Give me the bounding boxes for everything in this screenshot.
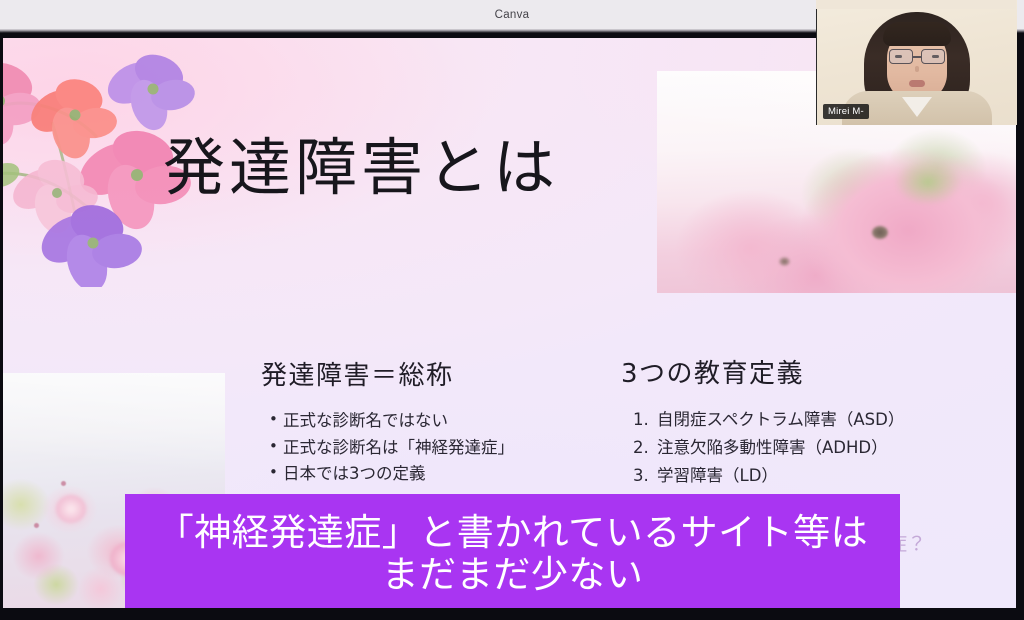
window-right-border xyxy=(1016,30,1024,620)
list-item: 日本では3つの定義 xyxy=(283,461,585,488)
webcam-video-tile[interactable]: Mirei M- xyxy=(816,0,1017,125)
content-column-right: 3つの教育定義 自閉症スペクトラム障害（ASD） 注意欠陥多動性障害（ADHD）… xyxy=(621,353,951,490)
list-item: 正式な診断名は「神経発達症」 xyxy=(283,435,585,462)
content-column-left: 発達障害＝総称 正式な診断名ではない 正式な診断名は「神経発達症」 日本では3つ… xyxy=(255,355,585,488)
caption-banner: 「神経発達症」と書かれているサイト等は まだまだ少ない xyxy=(125,494,900,608)
list-item: 学習障害（LD） xyxy=(633,462,951,490)
webcam-top-fill xyxy=(816,0,1016,9)
glasses-lens-left xyxy=(889,49,913,64)
list-item: 自閉症スペクトラム障害（ASD） xyxy=(633,406,951,434)
glasses-lens-right xyxy=(921,49,945,64)
participant-name-label: Mirei M- xyxy=(823,104,869,119)
presenter-fringe xyxy=(883,22,951,46)
list-item: 注意欠陥多動性障害（ADHD） xyxy=(633,434,951,462)
caption-banner-text: 「神経発達症」と書かれているサイト等は まだまだ少ない xyxy=(157,512,868,595)
window-bottom-border xyxy=(0,608,1024,620)
right-column-numbered-list: 自閉症スペクトラム障害（ASD） 注意欠陥多動性障害（ADHD） 学習障害（LD… xyxy=(621,406,951,490)
window-title: Canva xyxy=(495,9,530,21)
right-column-heading: 3つの教育定義 xyxy=(621,353,951,390)
left-column-bullet-list: 正式な診断名ではない 正式な診断名は「神経発達症」 日本では3つの定義 xyxy=(255,408,585,488)
window-left-border xyxy=(0,30,3,620)
screenshare-top-border xyxy=(0,33,816,38)
glasses-bridge xyxy=(912,56,922,58)
slide-title: 発達障害とは xyxy=(163,137,559,199)
presenter-nose xyxy=(915,66,919,72)
caption-line-2: まだまだ少ない xyxy=(157,554,868,595)
left-column-heading: 発達障害＝総称 xyxy=(255,355,585,392)
list-item: 正式な診断名ではない xyxy=(283,408,585,435)
caption-line-1: 「神経発達症」と書かれているサイト等は xyxy=(157,512,868,553)
screen-root: Canva xyxy=(0,0,1024,620)
presenter-mouth xyxy=(909,80,925,87)
